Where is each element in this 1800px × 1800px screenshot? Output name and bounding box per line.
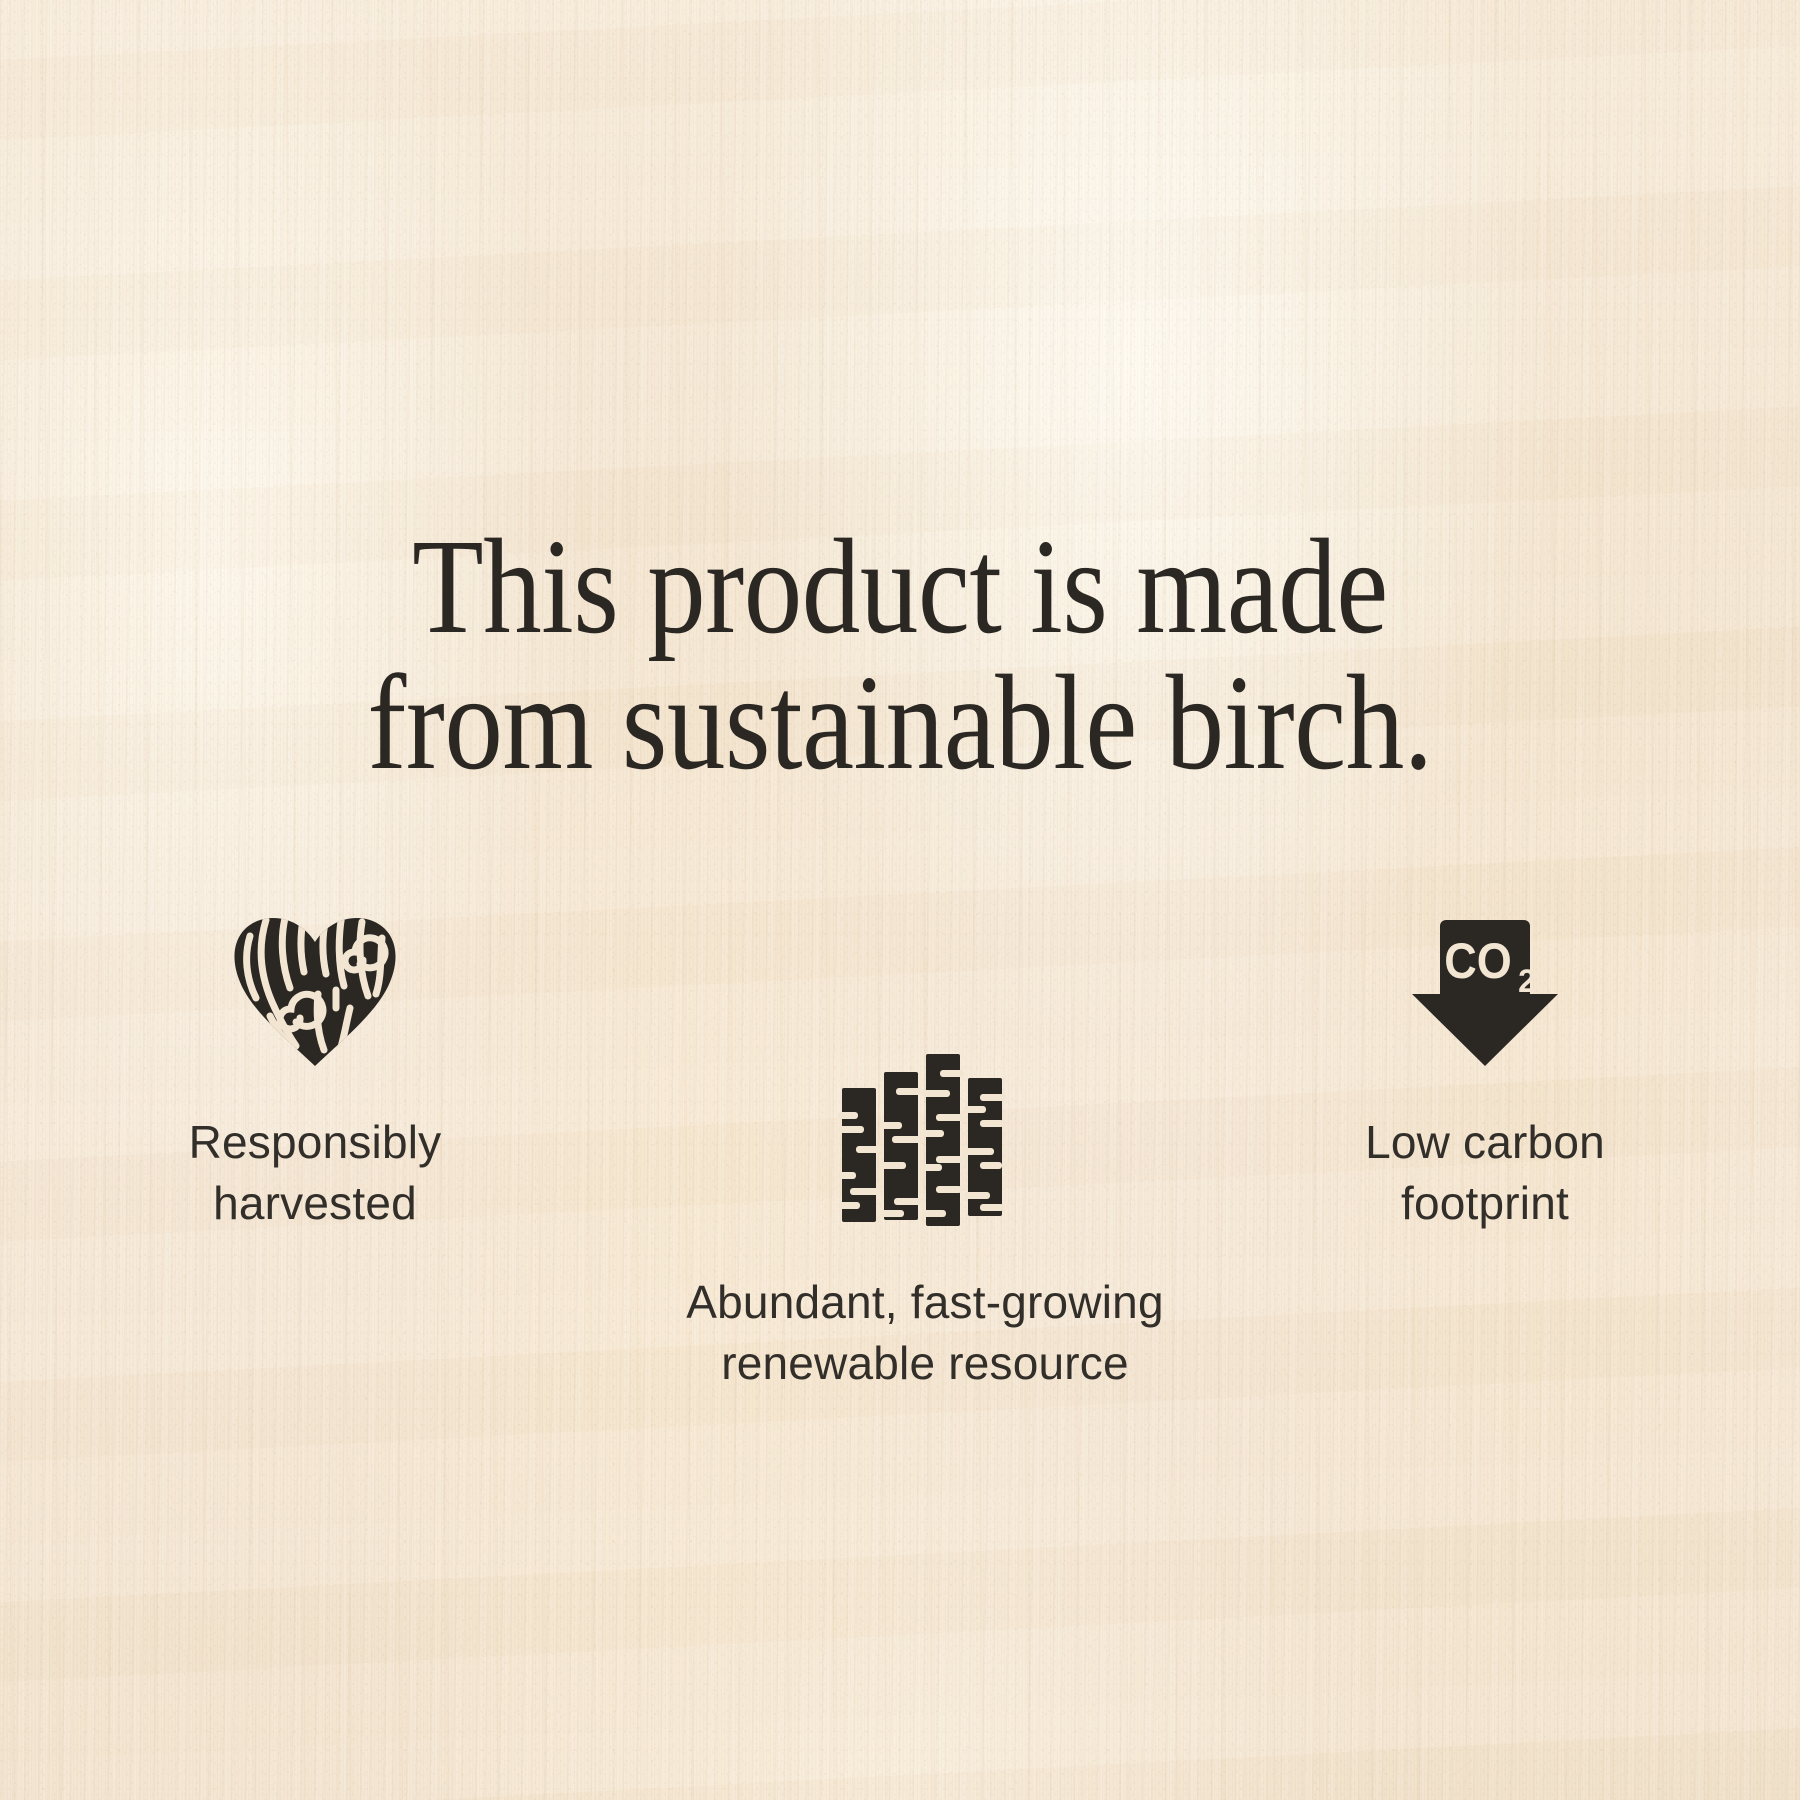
- feature-caption: Abundant, fast-growing renewable resourc…: [660, 1272, 1190, 1393]
- co2-subscript: 2: [1518, 963, 1536, 999]
- headline: This product is madefrom sustainable bir…: [126, 519, 1674, 791]
- feature-abundant-renewable: Abundant, fast-growing renewable resourc…: [660, 1052, 1190, 1393]
- feature-caption: Low carbon footprint: [1270, 1112, 1700, 1233]
- co2-label: CO: [1444, 934, 1511, 990]
- feature-caption: Responsibly harvested: [105, 1112, 525, 1233]
- headline-line-2: from sustainable birch.: [229, 655, 1571, 791]
- birch-trunks-icon: [836, 1052, 1014, 1230]
- co2-down-arrow-icon: CO 2: [1406, 916, 1564, 1068]
- feature-low-carbon-footprint: CO 2 Low carbon footprint: [1270, 916, 1700, 1233]
- feature-list: Responsibly harvested: [0, 900, 1800, 1460]
- poster-content: This product is madefrom sustainable bir…: [0, 0, 1800, 1800]
- headline-line-1: This product is made: [229, 519, 1571, 655]
- feature-responsibly-harvested: Responsibly harvested: [105, 916, 525, 1233]
- wood-grain-heart-icon: [230, 916, 400, 1068]
- birch-sustainability-poster: This product is madefrom sustainable bir…: [0, 0, 1800, 1800]
